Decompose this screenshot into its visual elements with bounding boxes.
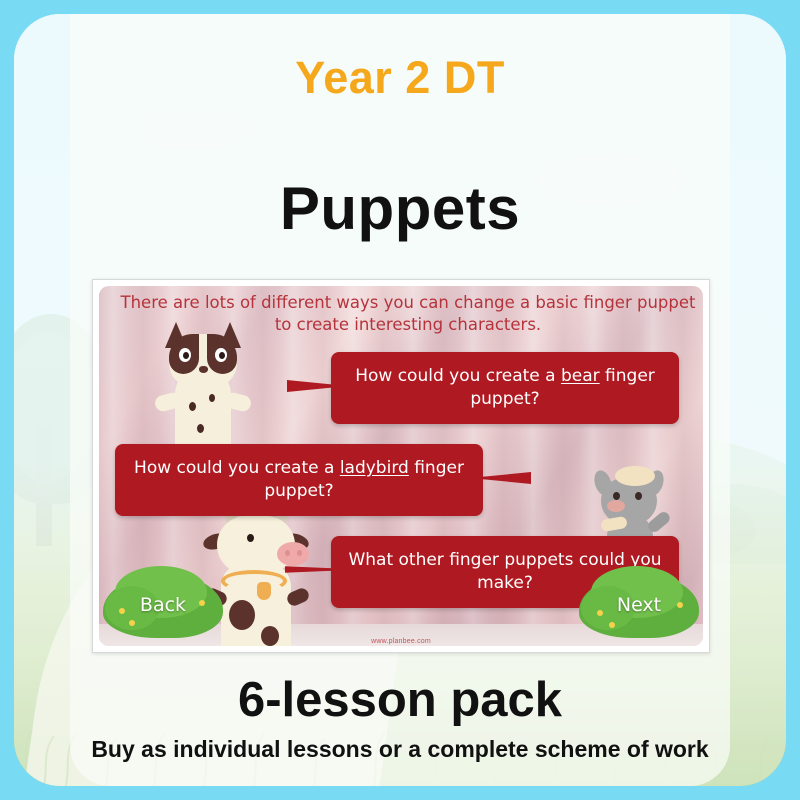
page-title: Puppets [14, 174, 786, 243]
cow-muzzle [277, 542, 309, 566]
watermark: www.planbee.com [99, 638, 703, 645]
cow-bell [257, 582, 271, 600]
cat-spot [209, 394, 215, 402]
donkey-hair [615, 466, 655, 486]
cat-nose [199, 366, 208, 373]
next-button[interactable]: Next [579, 566, 699, 640]
slide-preview[interactable]: There are lots of different ways you can… [92, 279, 710, 653]
callout-bear: How could you create a bear finger puppe… [331, 352, 679, 424]
cow-nostril [285, 550, 290, 556]
cow-eye [247, 534, 254, 542]
callout-emphasis: ladybird [340, 458, 409, 478]
back-label: Back [103, 594, 223, 616]
cat-spot [197, 424, 204, 433]
callout-ladybird: How could you create a ladybird finger p… [115, 444, 483, 516]
donkey-eye [635, 492, 642, 500]
callout-text-before: How could you create a [134, 458, 340, 478]
slide-canvas: There are lots of different ways you can… [99, 286, 703, 646]
cat-pupil [183, 352, 189, 359]
cow-collar [221, 570, 287, 592]
callout-text-before: How could you create a [355, 366, 561, 386]
cow-nostril [297, 550, 302, 556]
purchase-option-label: Buy as individual lessons or a complete … [14, 736, 786, 763]
berry [609, 622, 615, 628]
berry [129, 620, 135, 626]
cow-spot [229, 600, 255, 630]
cat-pupil [219, 352, 225, 359]
cat-spot [189, 402, 196, 411]
callout-emphasis: bear [561, 366, 600, 386]
back-button[interactable]: Back [103, 566, 223, 640]
donkey-snout [607, 500, 625, 512]
donkey-eye [613, 492, 620, 500]
subject-kicker: Year 2 DT [14, 52, 786, 104]
next-label: Next [579, 594, 699, 616]
product-card: Year 2 DT Puppets There are lots of diff… [14, 14, 786, 786]
outer-border: Year 2 DT Puppets There are lots of diff… [0, 0, 800, 800]
pack-size-label: 6-lesson pack [14, 672, 786, 728]
